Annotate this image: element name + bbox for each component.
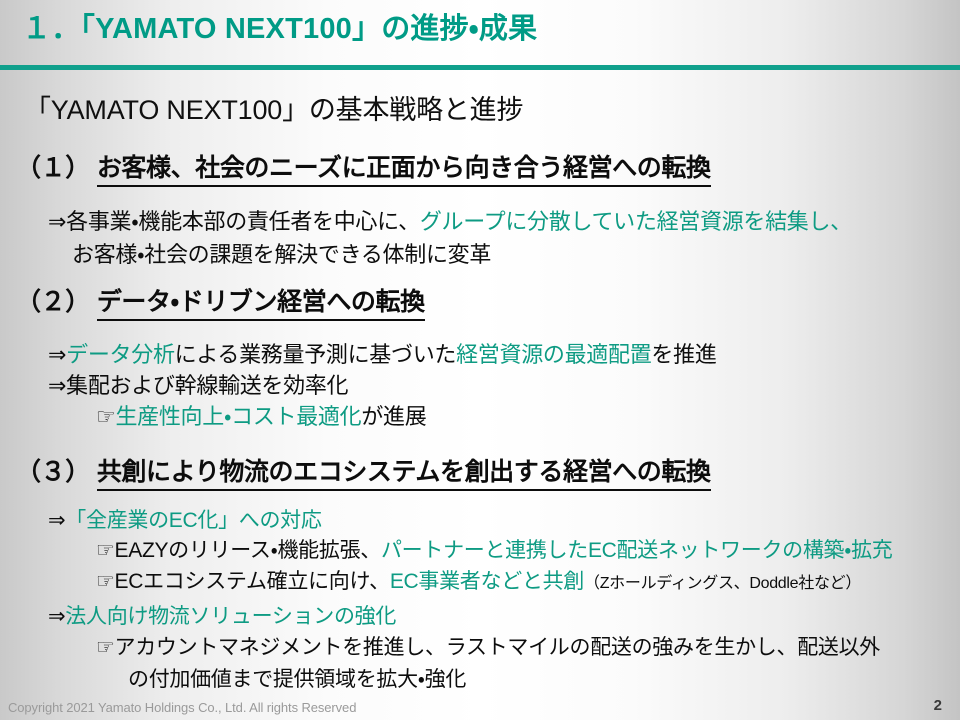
bullet-line: ☞ECエコシステム確立に向け、EC事業者などと共創（Zホールディングス、Dodd…: [96, 565, 861, 595]
bullet-text-run: の付加価値まで提供領域を拡大・強化: [128, 668, 466, 691]
bullet-text-run: データ分析: [66, 342, 175, 367]
slide-subtitle: 「YAMATO NEXT100」の基本戦略と進捗: [24, 88, 523, 127]
bullet-line: ☞アカウントマネジメントを推進し、ラストマイルの配送の強みを生かし、配送以外: [96, 631, 880, 661]
page-number: 2: [934, 697, 942, 714]
bullet-text-run: ☞: [96, 404, 115, 429]
bullet-line: ⇒集配および幹線輸送を効率化: [48, 368, 348, 400]
bullet-text-run: ☞アカウントマネジメントを推進し、ラストマイルの配送の強みを生かし、配送以外: [96, 636, 880, 659]
bullet-text-run: ⇒各事業・機能本部の責任者を中心に、: [48, 209, 420, 234]
section-number: （２）: [16, 282, 90, 318]
bullet-text-run: 法人向け物流ソリューションの強化: [65, 605, 396, 628]
bullet-line: ⇒各事業・機能本部の責任者を中心に、グループに分散していた経営資源を結集し、: [48, 204, 852, 236]
copyright-notice: Copyright 2021 Yamato Holdings Co., Ltd.…: [8, 700, 356, 715]
bullet-line: ☞EAZYのリリース・機能拡張、パートナーと連携したEC配送ネットワークの構築・…: [96, 534, 892, 564]
bullet-text-run: を推進: [651, 342, 716, 367]
section-number: （１）: [16, 148, 90, 184]
bullet-text-run: 生産性向上・コスト最適化: [115, 404, 361, 429]
bullet-text-run: ⇒: [48, 342, 66, 367]
section-heading: （１）お客様、社会のニーズに正面から向き合う経営への転換: [16, 148, 711, 187]
slide-canvas: １．「YAMATO NEXT100」の進捗・成果 「YAMATO NEXT100…: [0, 0, 960, 720]
bullet-line: お客様・社会の課題を解決できる体制に変革: [72, 237, 491, 269]
section-heading-text: 共創により物流のエコシステムを創出する経営への転換: [97, 452, 711, 491]
bullet-text-run: が進展: [361, 404, 426, 429]
bullet-text-run: による業務量予測に基づいた: [175, 342, 456, 367]
bullet-line: ⇒データ分析による業務量予測に基づいた経営資源の最適配置を推進: [48, 337, 717, 369]
bullet-text-run: ⇒集配および幹線輸送を効率化: [48, 373, 348, 398]
bullet-text-run: 「全産業のEC化」への対応: [65, 509, 321, 532]
section-heading: （３）共創により物流のエコシステムを創出する経営への転換: [16, 452, 711, 491]
bullet-line: ⇒法人向け物流ソリューションの強化: [48, 600, 396, 630]
slide-header: １．「YAMATO NEXT100」の進捗・成果: [0, 0, 960, 67]
section-heading-text: データ・ドリブン経営への転換: [97, 282, 425, 321]
bullet-text-run: ⇒: [48, 509, 65, 532]
section-heading: （２）データ・ドリブン経営への転換: [16, 282, 425, 321]
section-number: （３）: [16, 452, 90, 488]
bullet-text-run: ⇒: [48, 605, 65, 628]
bullet-text-run: ☞EAZYのリリース・機能拡張、: [96, 539, 381, 562]
bullet-text-run: パートナーと連携したEC配送ネットワークの構築・拡充: [381, 539, 893, 562]
page-title: １．「YAMATO NEXT100」の進捗・成果: [22, 14, 537, 46]
bullet-text-run: ☞ECエコシステム確立に向け、: [96, 570, 390, 593]
section-heading-text: お客様、社会のニーズに正面から向き合う経営への転換: [97, 148, 711, 187]
inline-note: （Zホールディングス、Doddle社など）: [584, 575, 861, 592]
bullet-text-run: EC事業者などと共創: [390, 570, 584, 593]
bullet-line: ⇒「全産業のEC化」への対応: [48, 504, 322, 534]
bullet-text-run: グループに分散していた経営資源を結集し、: [420, 209, 852, 234]
bullet-line: ☞生産性向上・コスト最適化が進展: [96, 399, 426, 431]
bullet-text-run: お客様・社会の課題を解決できる体制に変革: [72, 242, 491, 267]
bullet-line: の付加価値まで提供領域を拡大・強化: [128, 663, 466, 693]
title-divider: [0, 65, 960, 70]
bullet-text-run: 経営資源の最適配置: [456, 342, 651, 367]
